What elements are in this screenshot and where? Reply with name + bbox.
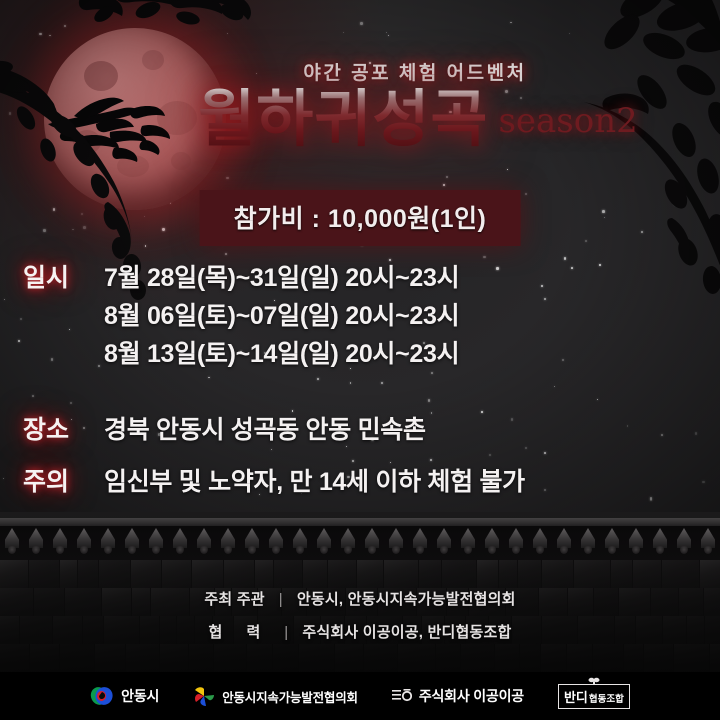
sponsor-logo-bar: 안동시 안동시지속가능발전협의회 주식회사 이공이공	[0, 672, 720, 720]
roof-tile	[576, 526, 600, 560]
roof-tiles	[0, 526, 720, 560]
price-banner: 참가비 : 10,000원(1인)	[200, 190, 521, 246]
detail-value: 경북 안동시 성곡동 안동 민속촌	[104, 410, 426, 446]
event-details: 일시7월 28일(목)~31일(일) 20시~23시일시8월 06일(토)~07…	[0, 258, 720, 500]
detail-spacer	[0, 448, 720, 462]
credits-block: 주최 주관|안동시, 안동시지속가능발전협의회협 력|주식회사 이공이공, 반디…	[0, 588, 720, 654]
roof-tile	[288, 526, 312, 560]
credit-line: 협 력|주식회사 이공이공, 반디협동조합	[0, 621, 720, 642]
logo-sustainable-council[interactable]: 안동시지속가능발전협의회	[193, 686, 358, 706]
logo-bandi-primary: 반디	[564, 687, 588, 706]
detail-row: 주의임신부 및 노약자, 만 14세 이하 체험 불가	[0, 462, 720, 498]
logo-bandi-cooperative[interactable]: 반디 협동조합	[558, 684, 630, 709]
roof-tile	[600, 526, 624, 560]
credit-line: 주최 주관|안동시, 안동시지속가능발전협의회	[0, 588, 720, 609]
detail-row: 일시7월 28일(목)~31일(일) 20시~23시	[0, 258, 720, 294]
roof-tile	[528, 526, 552, 560]
detail-value: 7월 28일(목)~31일(일) 20시~23시	[104, 258, 459, 294]
roof-tile	[192, 526, 216, 560]
roof-tile	[120, 526, 144, 560]
andong-swirl-icon	[90, 685, 114, 707]
season-label: season2	[498, 101, 637, 141]
credit-separator: |	[284, 624, 288, 641]
roof-tile	[384, 526, 408, 560]
roof-tile	[672, 526, 696, 560]
logo-bandi-secondary: 협동조합	[589, 691, 624, 705]
pinwheel-icon	[193, 686, 215, 706]
roof-tile	[648, 526, 672, 560]
credit-label: 주최 주관	[204, 588, 264, 609]
roof-tile	[24, 526, 48, 560]
detail-label: 일시	[0, 258, 92, 294]
roof-tile	[264, 526, 288, 560]
logo-sustainable-council-label: 안동시지속가능발전협의회	[222, 687, 358, 706]
detail-row: 일시8월 06일(토)~07일(일) 20시~23시	[0, 296, 720, 332]
roof-tile	[360, 526, 384, 560]
egong-mark-icon	[392, 688, 412, 704]
roof-tile	[96, 526, 120, 560]
detail-value: 8월 06일(토)~07일(일) 20시~23시	[104, 296, 459, 332]
logo-egong-egong-label: 주식회사 이공이공	[419, 686, 524, 706]
roof-tile	[624, 526, 648, 560]
roof-tile	[240, 526, 264, 560]
page-title: 월하귀성곡	[198, 88, 488, 150]
logo-andong-city[interactable]: 안동시	[90, 685, 159, 707]
poster-tagline: 야간 공포 체험 어드벤처	[0, 58, 720, 85]
logo-egong-egong[interactable]: 주식회사 이공이공	[392, 686, 524, 706]
event-poster: 야간 공포 체험 어드벤처 월하귀성곡 season2 참가비 : 10,000…	[0, 0, 720, 720]
detail-value: 8월 13일(토)~14일(일) 20시~23시	[104, 334, 459, 370]
roof-tile	[216, 526, 240, 560]
poster-title-row: 월하귀성곡 season2	[0, 88, 720, 150]
roof-tile	[168, 526, 192, 560]
roof-tile	[72, 526, 96, 560]
firefly-icon	[587, 676, 601, 685]
detail-label: 주의	[0, 462, 92, 498]
detail-spacer	[0, 372, 720, 410]
price-text: 참가비 : 10,000원(1인)	[234, 205, 487, 233]
roof-tile	[0, 526, 24, 560]
roof-tile	[456, 526, 480, 560]
credit-label: 협 력	[209, 621, 271, 642]
roof-tile	[696, 526, 720, 560]
credit-separator: |	[279, 591, 283, 608]
credit-value: 주식회사 이공이공, 반디협동조합	[302, 624, 511, 641]
detail-row: 장소경북 안동시 성곡동 안동 민속촌	[0, 410, 720, 446]
roof-tile	[432, 526, 456, 560]
roof-tile	[480, 526, 504, 560]
roof-tile	[408, 526, 432, 560]
roof-tile	[312, 526, 336, 560]
roof-tile	[144, 526, 168, 560]
logo-andong-city-label: 안동시	[121, 686, 159, 706]
detail-value: 임신부 및 노약자, 만 14세 이하 체험 불가	[104, 462, 525, 498]
roof-tile	[336, 526, 360, 560]
roof-tile	[552, 526, 576, 560]
detail-label: 장소	[0, 410, 92, 446]
roof-tile	[504, 526, 528, 560]
credit-value: 안동시, 안동시지속가능발전협의회	[297, 591, 516, 608]
roof-tile	[48, 526, 72, 560]
detail-row: 일시8월 13일(토)~14일(일) 20시~23시	[0, 334, 720, 370]
